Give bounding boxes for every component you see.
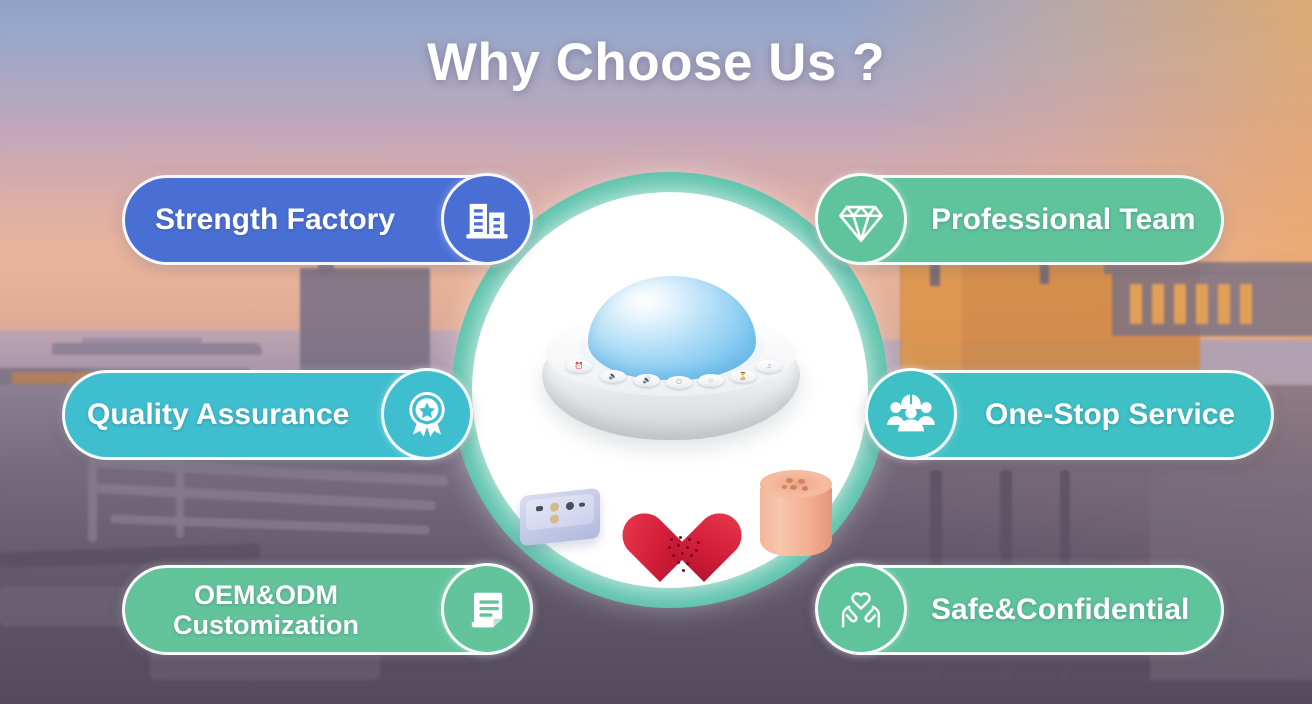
feature-label-oem-odm-line1: OEM&ODM (194, 580, 338, 610)
feature-pill-safe-confidential[interactable]: Safe&Confidential (816, 565, 1224, 655)
device-button-glyph: ⏻ (666, 376, 692, 389)
factory-building-icon (441, 173, 533, 265)
speaker-grille (666, 536, 706, 566)
device-button-glyph: ♫ (756, 360, 782, 373)
feature-pill-strength-factory[interactable]: Strength Factory (122, 175, 532, 265)
feature-label-strength-factory: Strength Factory (155, 203, 395, 237)
feature-pill-quality-assurance[interactable]: Quality Assurance (62, 370, 472, 460)
feature-pill-one-stop-service[interactable]: One-Stop Service (866, 370, 1274, 460)
product-heart-speaker (640, 510, 724, 590)
module-port (579, 502, 585, 507)
feature-label-professional-team: Professional Team (931, 203, 1196, 237)
device-button-glyph: ⏰ (566, 360, 592, 373)
module-contact (550, 514, 559, 524)
device-button-glyph: 🔈 (600, 370, 626, 383)
device-button-glyph: 🔊 (634, 374, 660, 387)
device-light-dome (588, 276, 756, 380)
product-cylinder-capsule (760, 470, 832, 562)
feature-label-one-stop-service: One-Stop Service (985, 398, 1235, 432)
feature-label-oem-odm-line2: Customization (173, 610, 359, 640)
infographic-canvas: Why Choose Us ? ⏰ 🔈 🔊 ⏻ ☼ ⏳ (0, 0, 1312, 704)
capsule-top (760, 470, 832, 498)
feature-pill-professional-team[interactable]: Professional Team (816, 175, 1224, 265)
award-badge-star-icon (381, 368, 473, 460)
hands-holding-heart-icon (815, 563, 907, 655)
page-title: Why Choose Us ? (0, 32, 1312, 93)
feature-label-quality-assurance: Quality Assurance (87, 398, 349, 432)
document-lines-icon (441, 563, 533, 655)
product-square-module (520, 488, 600, 546)
device-button-glyph: ☼ (698, 374, 724, 387)
module-port (566, 502, 574, 511)
center-circle-inner: ⏰ 🔈 🔊 ⏻ ☼ ⏳ ♫ (472, 192, 868, 588)
module-port (536, 506, 543, 512)
module-top (526, 493, 594, 530)
team-helmet-workers-icon (865, 368, 957, 460)
device-button-glyph: ⏳ (730, 370, 756, 383)
diamond-icon (815, 173, 907, 265)
product-sound-machine: ⏰ 🔈 🔊 ⏻ ☼ ⏳ ♫ (542, 270, 800, 460)
module-contact (550, 502, 559, 512)
feature-label-safe-confidential: Safe&Confidential (931, 593, 1189, 627)
feature-pill-oem-odm-customization[interactable]: OEM&ODMCustomization (122, 565, 532, 655)
feature-label-oem-odm: OEM&ODMCustomization (173, 580, 359, 640)
